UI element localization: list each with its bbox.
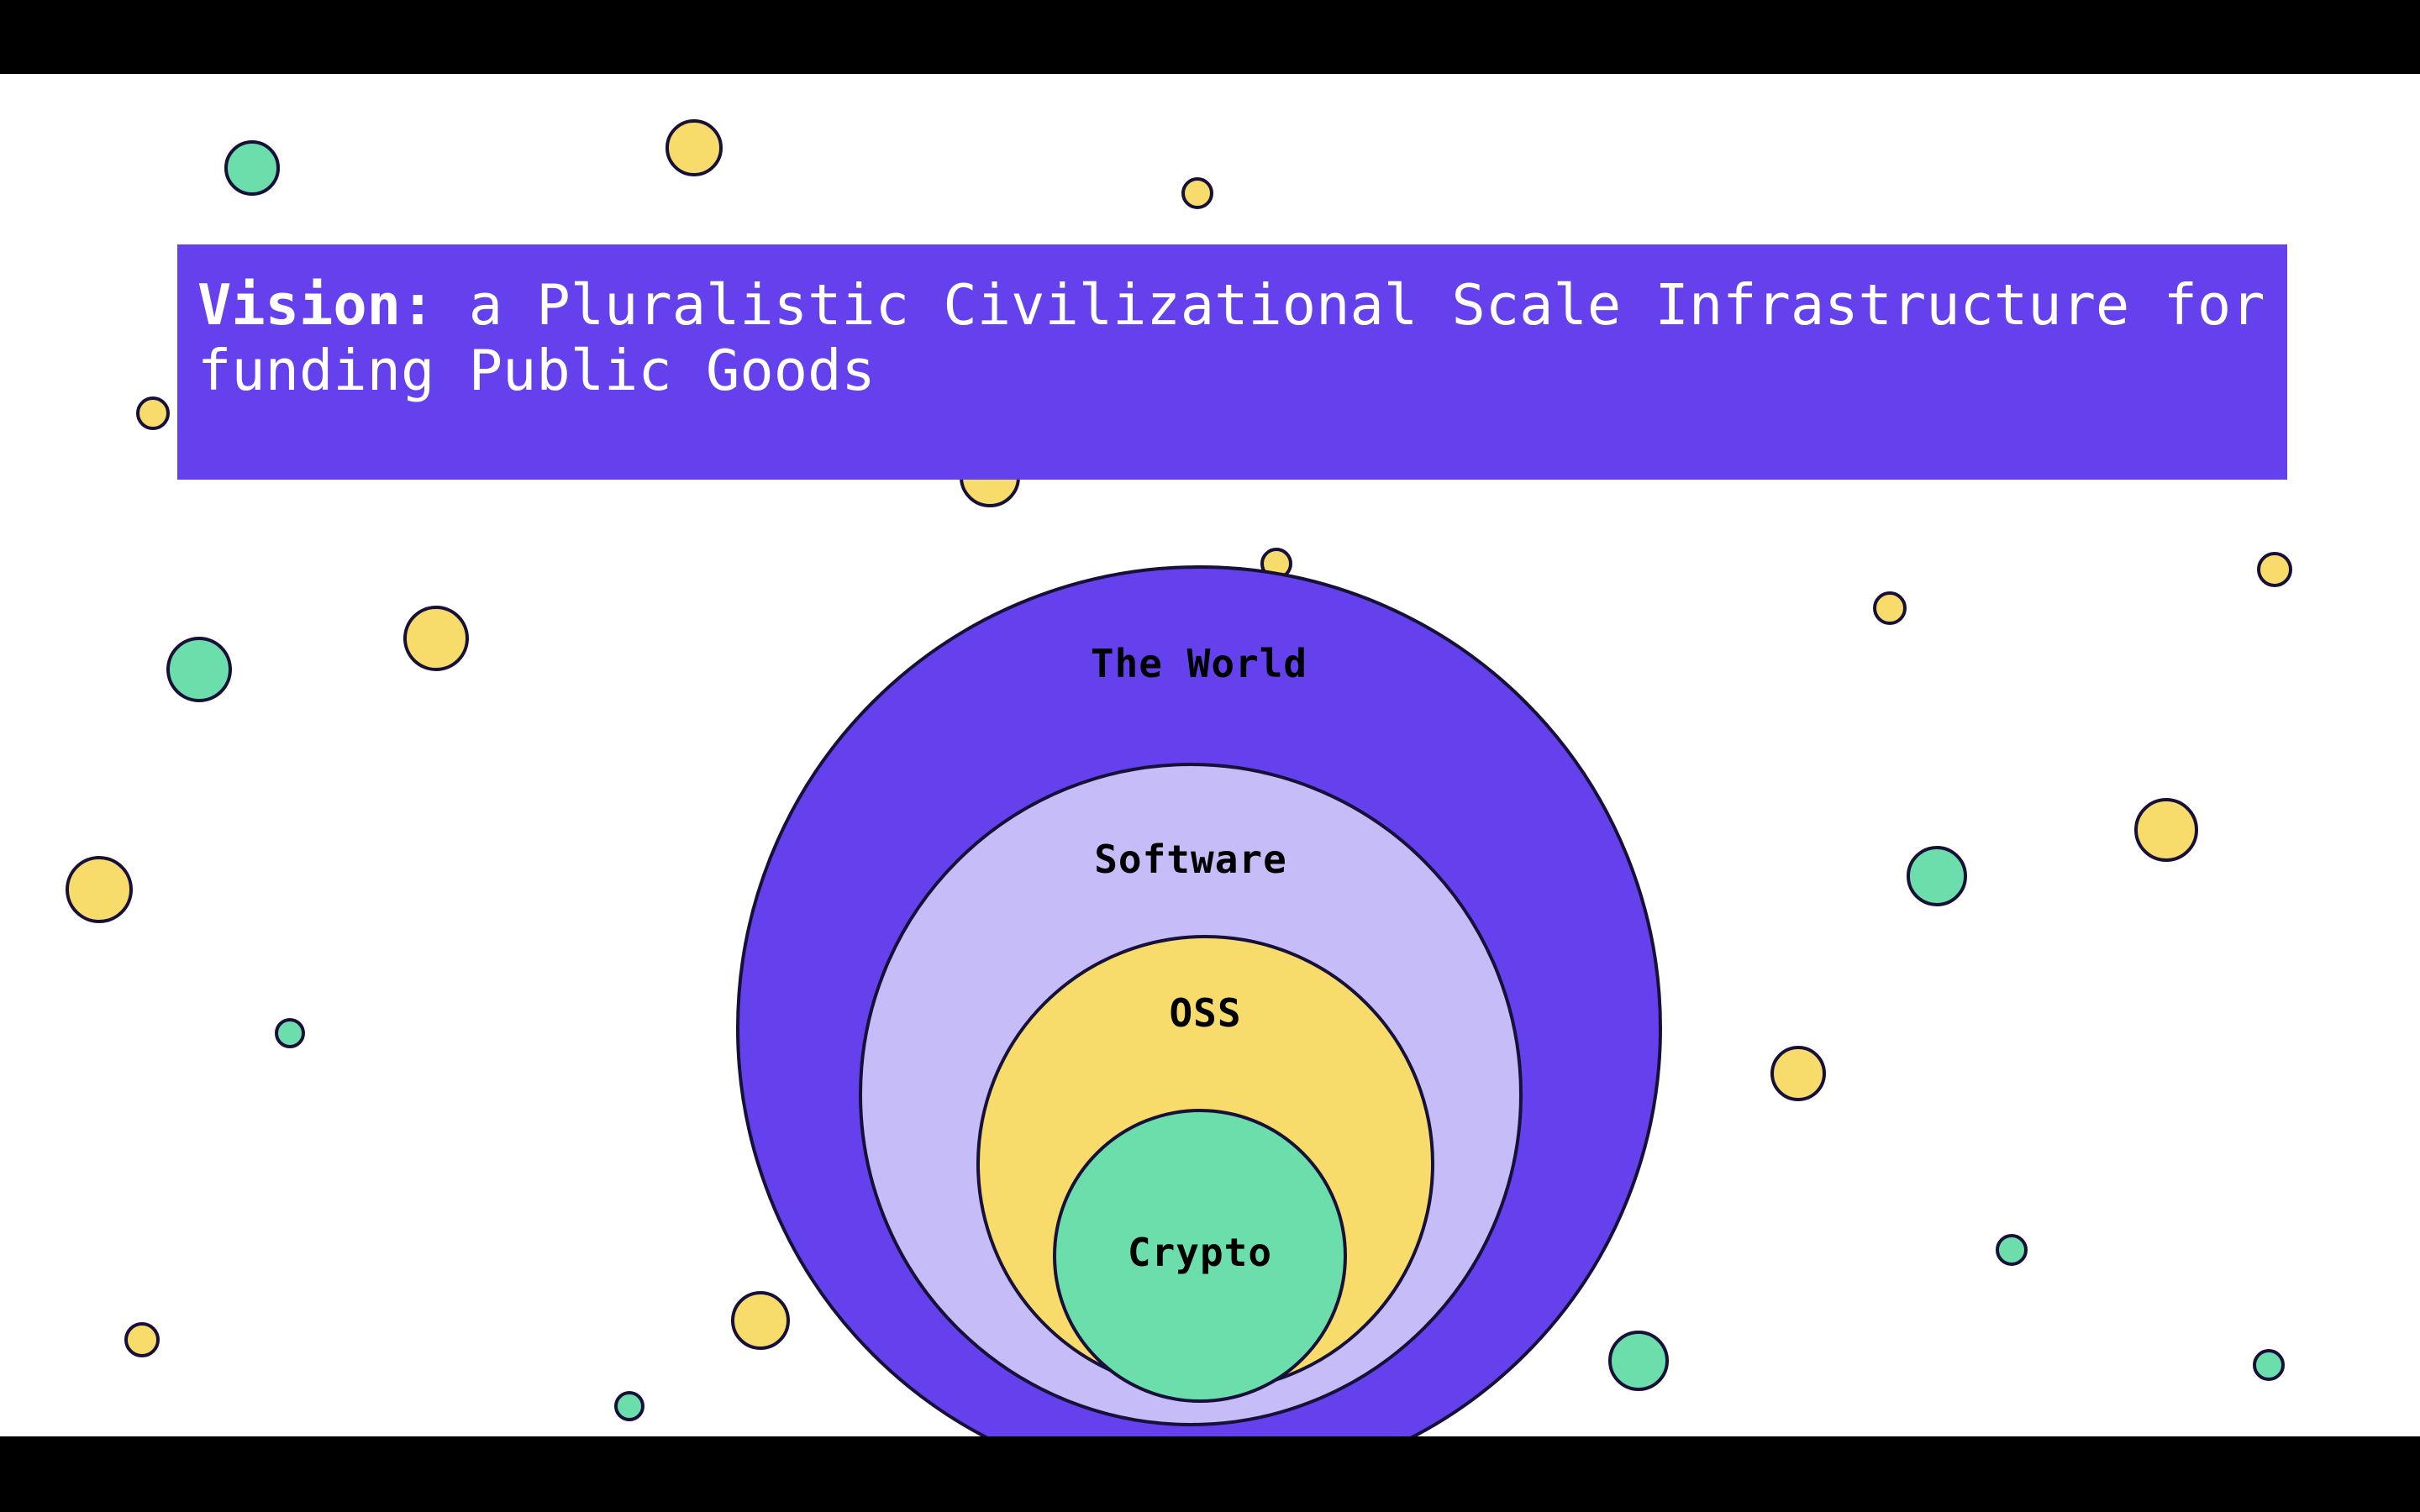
- slide-canvas: Vision: a Pluralistic Civilizational Sca…: [0, 0, 2420, 1512]
- circle-crypto: Crypto: [1053, 1109, 1347, 1403]
- page-title: Vision: a Pluralistic Civilizational Sca…: [197, 273, 2287, 403]
- letterbox-bottom-bar: [0, 1436, 2420, 1512]
- decorative-dot: [1181, 177, 1213, 209]
- circle-the-world: The World: [736, 565, 1662, 1436]
- circle-label-crypto: Crypto: [1128, 1230, 1272, 1399]
- decorative-dot: [731, 1291, 790, 1350]
- circle-software: Software: [859, 763, 1523, 1426]
- decorative-dot: [1996, 1234, 2028, 1266]
- circle-oss: OSS: [976, 935, 1434, 1393]
- decorative-dot: [66, 856, 133, 923]
- letterbox-top-bar: [0, 0, 2420, 74]
- circle-label-the-world: The World: [1091, 641, 1307, 1436]
- decorative-dot: [614, 1391, 644, 1421]
- title-emphasis: Vision:: [197, 272, 434, 338]
- decorative-dot: [166, 637, 232, 702]
- circle-label-oss: OSS: [1169, 990, 1241, 1389]
- decorative-dot: [2134, 798, 2198, 862]
- title-rest: a Pluralistic Civilizational Scale Infra…: [197, 272, 2299, 403]
- decorative-dot: [275, 1018, 305, 1048]
- decorative-dot: [224, 140, 280, 196]
- decorative-dot: [1770, 1046, 1826, 1101]
- circle-label-software: Software: [1094, 837, 1287, 1423]
- decorative-dot: [1260, 548, 1292, 580]
- decorative-dot: [1907, 846, 1967, 906]
- decorative-dot: [2257, 552, 2292, 587]
- title-banner: Vision: a Pluralistic Civilizational Sca…: [177, 244, 2287, 480]
- slide-content-area: Vision: a Pluralistic Civilizational Sca…: [0, 74, 2420, 1436]
- decorative-dot: [136, 396, 170, 430]
- decorative-dot: [124, 1322, 160, 1357]
- decorative-dot: [2253, 1349, 2285, 1381]
- decorative-dot: [403, 606, 469, 671]
- decorative-dot: [665, 119, 723, 176]
- decorative-dot: [1873, 591, 1907, 625]
- decorative-dot: [1608, 1331, 1669, 1391]
